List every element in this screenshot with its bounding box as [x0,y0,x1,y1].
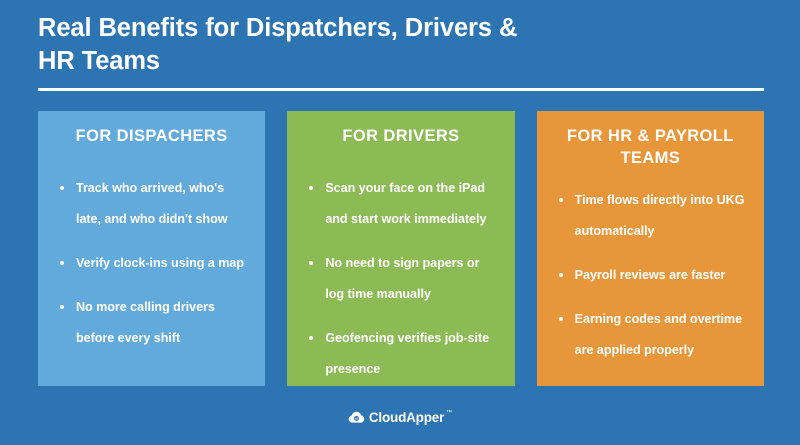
bullet-icon [60,261,64,265]
bullet-icon [309,336,313,340]
bullet-icon [309,186,313,190]
title-divider [38,88,764,91]
benefit-columns: FOR DISPACHERS Track who arrived, who's … [38,111,764,386]
slide-canvas: Real Benefits for Dispatchers, Drivers &… [0,0,800,445]
list-item-label: Earning codes and overtime are applied p… [575,312,742,357]
list-item-label: Scan your face on the iPad and start wor… [325,181,486,226]
list-item-label: No need to sign papers or log time manua… [325,256,479,301]
benefit-list-dispatchers: Track who arrived, who's late, and who d… [48,173,255,354]
benefit-card-hr-payroll: FOR HR & PAYROLL TEAMS Time flows direct… [537,111,764,386]
list-item: Scan your face on the iPad and start wor… [307,173,498,235]
card-title-hr-payroll: FOR HR & PAYROLL TEAMS [547,125,754,169]
list-item: Earning codes and overtime are applied p… [557,304,748,366]
brand-logo-text: CloudApper [369,409,444,426]
benefit-card-dispatchers: FOR DISPACHERS Track who arrived, who's … [38,111,265,386]
bullet-icon [309,261,313,265]
card-title-drivers: FOR DRIVERS [297,125,504,147]
list-item-label: Payroll reviews are faster [575,268,726,282]
bullet-icon [559,198,563,202]
list-item: Track who arrived, who's late, and who d… [58,173,249,235]
list-item: No need to sign papers or log time manua… [307,248,498,310]
bullet-icon [559,273,563,277]
page-title: Real Benefits for Dispatchers, Drivers &… [38,12,538,78]
cloud-icon [348,409,365,426]
card-title-dispatchers: FOR DISPACHERS [48,125,255,147]
benefit-card-drivers: FOR DRIVERS Scan your face on the iPad a… [287,111,514,386]
brand-trademark: ™ [446,409,452,417]
benefit-list-drivers: Scan your face on the iPad and start wor… [297,173,504,385]
list-item: Geofencing verifies job-site presence [307,323,498,385]
list-item: Time flows directly into UKG automatical… [557,185,748,247]
bullet-icon [60,186,64,190]
list-item-label: Verify clock-ins using a map [76,256,244,270]
bullet-icon [559,317,563,321]
list-item-label: Geofencing verifies job-site presence [325,331,489,376]
list-item-label: Time flows directly into UKG automatical… [575,193,745,238]
brand-logo: CloudApper ™ [0,405,800,429]
benefit-list-hr-payroll: Time flows directly into UKG automatical… [547,185,754,366]
title-block: Real Benefits for Dispatchers, Drivers &… [38,12,738,78]
list-item: No more calling drivers before every shi… [58,292,249,354]
list-item: Verify clock-ins using a map [58,248,249,279]
list-item: Payroll reviews are faster [557,260,748,291]
bullet-icon [60,305,64,309]
list-item-label: Track who arrived, who's late, and who d… [76,181,227,226]
list-item-label: No more calling drivers before every shi… [76,300,215,345]
